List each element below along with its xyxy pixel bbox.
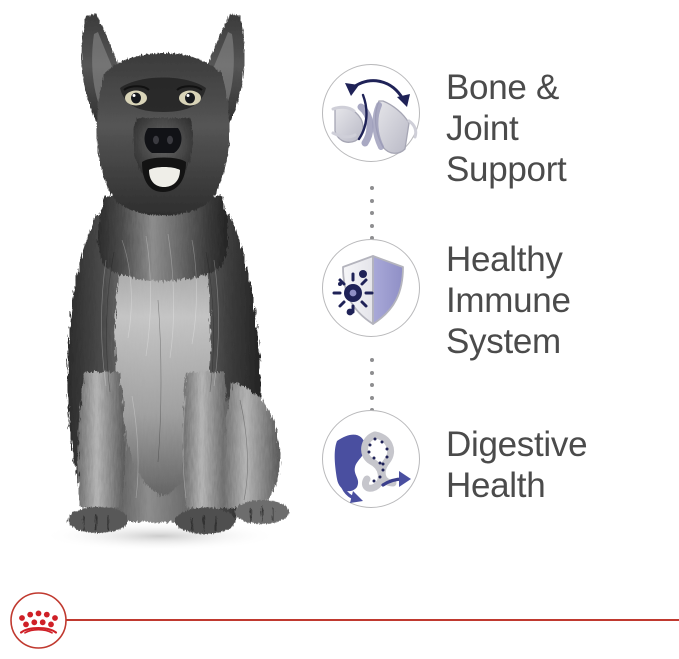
benefit-label-immune: Healthy Immune System bbox=[446, 239, 571, 362]
benefit-item-immune: Healthy Immune System bbox=[322, 239, 679, 362]
crown-arc-inner bbox=[25, 630, 52, 633]
benefits-list: Bone & Joint Support bbox=[322, 58, 679, 538]
immune-shield-icon bbox=[322, 239, 420, 337]
bone-joint-icon bbox=[322, 64, 420, 162]
dog-right-paw bbox=[175, 508, 235, 534]
dog-nose bbox=[145, 128, 182, 153]
crown-dots bbox=[19, 611, 58, 628]
benefit-item-digestive: Digestive Health bbox=[322, 410, 679, 508]
dog-right-foreleg bbox=[183, 372, 230, 508]
connector-dots-2 bbox=[369, 358, 375, 412]
benefit-label-digestive: Digestive Health bbox=[446, 410, 587, 506]
connector-dot bbox=[370, 371, 374, 375]
connector-dots-1 bbox=[369, 186, 375, 240]
connector-dot bbox=[370, 199, 374, 203]
brand-divider-line bbox=[66, 619, 679, 621]
connector-dot bbox=[370, 383, 374, 387]
brand-footer bbox=[0, 591, 679, 659]
german-shepherd-dog-photo bbox=[0, 0, 330, 580]
royal-canin-crown-icon bbox=[9, 591, 68, 650]
connector-dot bbox=[370, 211, 374, 215]
benefit-item-bone-joint: Bone & Joint Support bbox=[322, 64, 679, 190]
connector-dot bbox=[370, 396, 374, 400]
dog-illustration bbox=[0, 0, 330, 580]
connector-dot bbox=[370, 186, 374, 190]
connector-dot bbox=[370, 358, 374, 362]
connector-dot bbox=[370, 224, 374, 228]
digestive-tract-icon bbox=[322, 410, 420, 508]
benefits-panel: Bone & Joint Support bbox=[0, 0, 679, 659]
dog-left-paw bbox=[68, 507, 128, 533]
benefit-label-bone-joint: Bone & Joint Support bbox=[446, 64, 567, 190]
dog-left-foreleg bbox=[78, 372, 125, 508]
